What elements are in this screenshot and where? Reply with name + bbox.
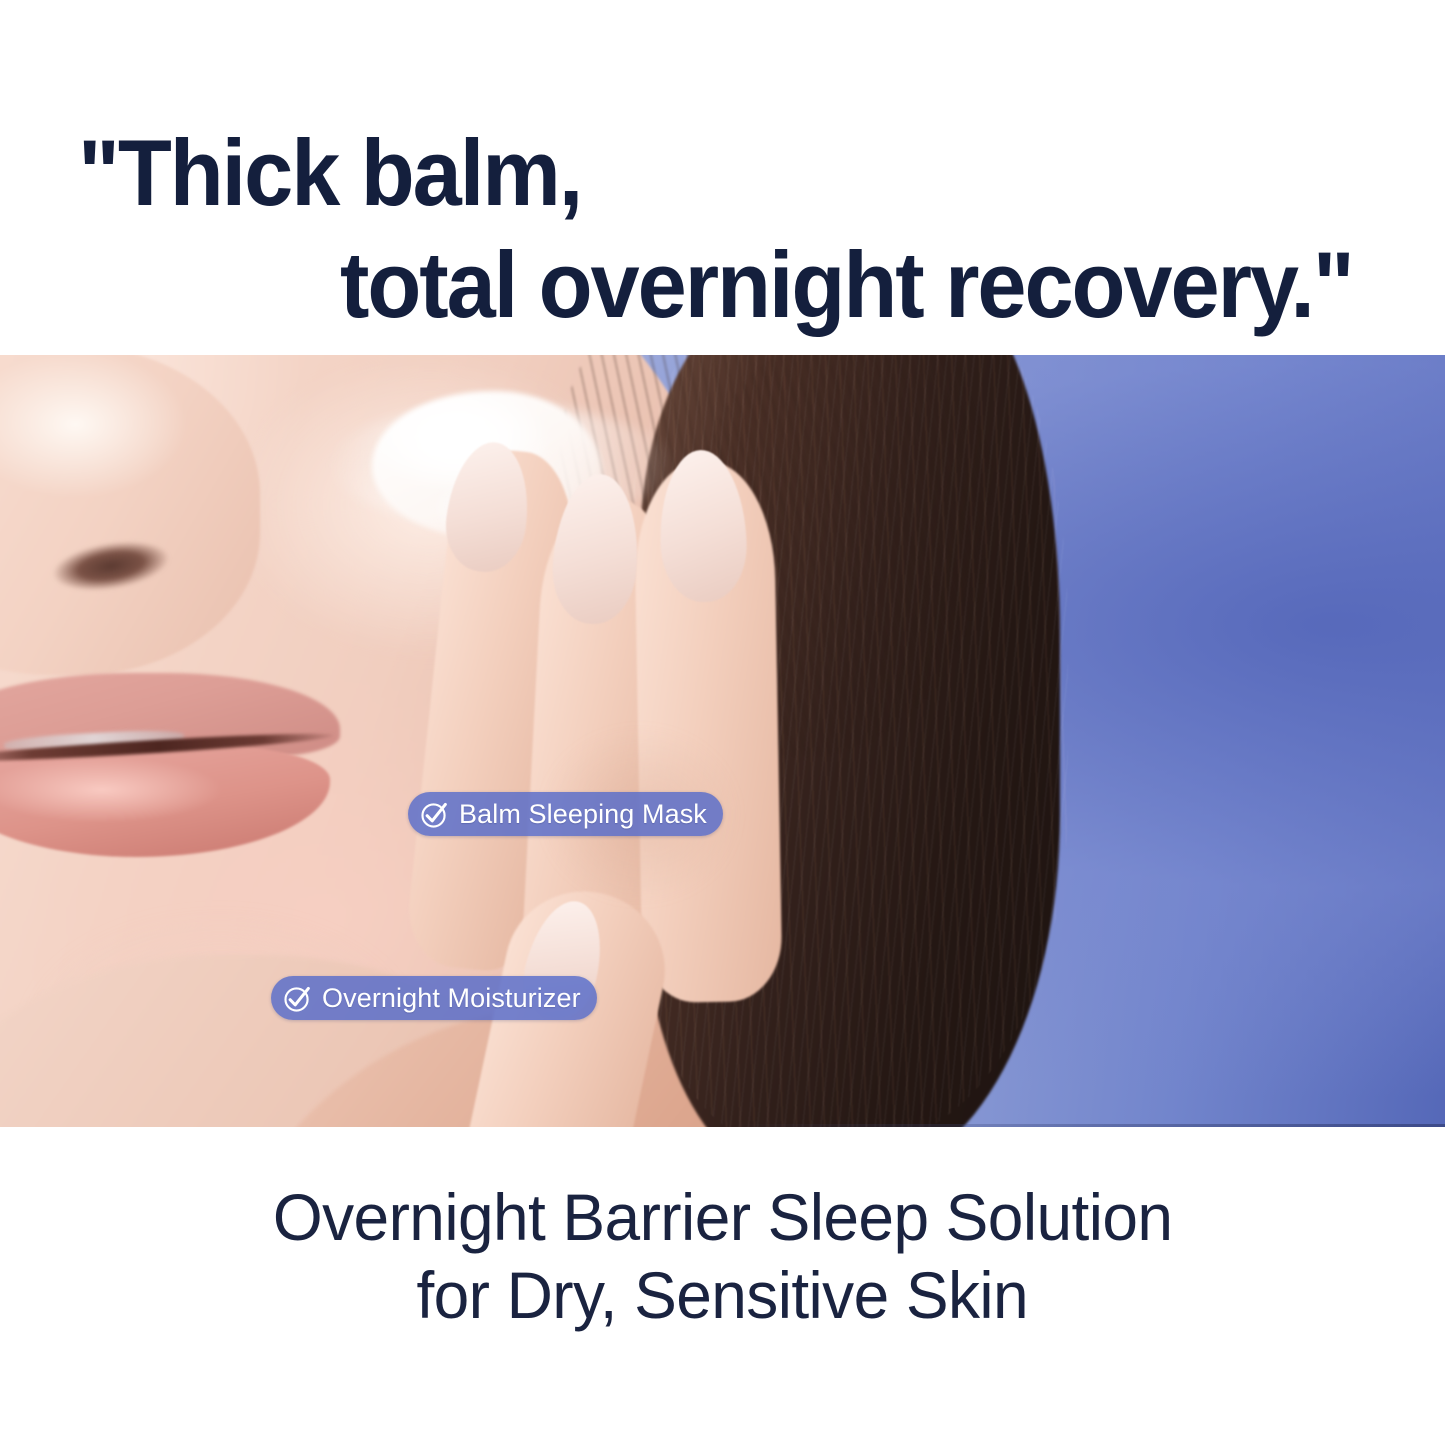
ad-page: "Thick balm, total overnight recovery." [0,0,1445,1445]
headline-block: "Thick balm, total overnight recovery." [0,0,1445,355]
check-circle-icon [282,983,313,1014]
benefit-badge: Balm Sleeping Mask [408,792,723,836]
benefit-badge-label: Balm Sleeping Mask [459,801,707,828]
headline-line-1: "Thick balm, [78,126,581,220]
hero-photo: Balm Sleeping MaskOvernight MoisturizerD… [0,355,1445,1127]
headline-line-2: total overnight recovery." [340,238,1353,332]
caption-block: Overnight Barrier Sleep Solution for Dry… [0,1127,1445,1445]
model-hand [470,450,800,1127]
caption-line-2: for Dry, Sensitive Skin [417,1257,1029,1335]
caption-line-1: Overnight Barrier Sleep Solution [273,1179,1172,1257]
benefit-badge: Overnight Moisturizer [271,976,597,1020]
model-lips [0,673,340,853]
benefit-badge-label: Overnight Moisturizer [322,985,581,1012]
lower-lip [0,745,330,857]
check-circle-icon [419,799,450,830]
